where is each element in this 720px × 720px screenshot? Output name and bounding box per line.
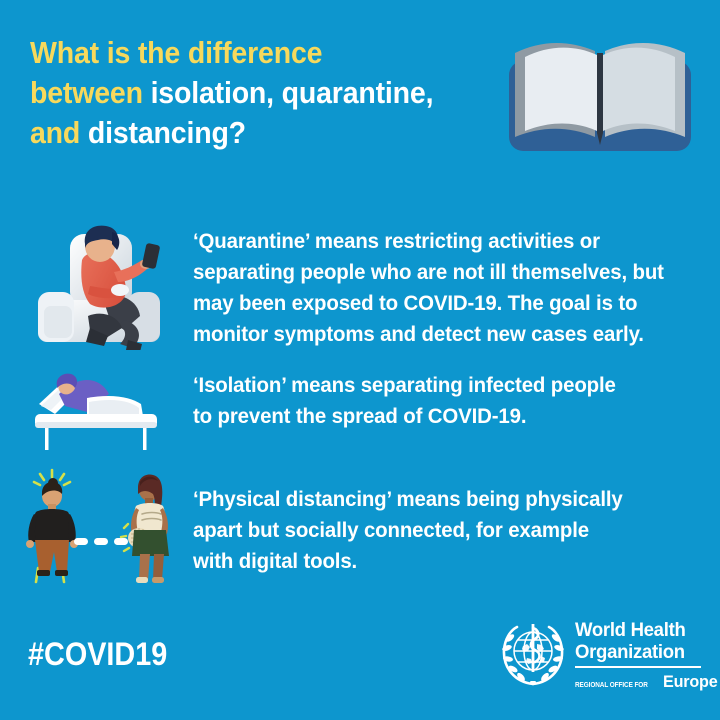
headline-segment: between (30, 75, 151, 110)
illustration-person-in-armchair (28, 220, 178, 355)
who-region: REGIONAL OFFICE FOR Europe (575, 672, 703, 692)
headline-segment: isolation, quarantine, (151, 75, 434, 110)
headline-segment: What is the difference (30, 35, 322, 70)
who-region-name: Europe (663, 672, 718, 692)
headline-line-3: and distancing? (30, 113, 462, 153)
section-distancing: ‘Physical distancing’ means being physic… (0, 462, 720, 597)
section-quarantine: ‘Quarantine’ means restricting activitie… (0, 216, 720, 351)
who-name-line-2: Organization (575, 642, 697, 664)
text-line: to prevent the spread of COVID-19. (193, 401, 668, 432)
who-emblem-icon (497, 618, 569, 690)
text-line: ‘Isolation’ means separating infected pe… (193, 370, 668, 401)
headline-line-1: What is the difference (30, 33, 462, 73)
open-book-icon (505, 25, 695, 170)
who-wordmark: World Health Organization REGIONAL OFFIC… (575, 620, 703, 692)
paragraph-quarantine: ‘Quarantine’ means restricting activitie… (193, 226, 668, 350)
paragraph-distancing: ‘Physical distancing’ means being physic… (193, 484, 668, 577)
page-title: What is the difference between isolation… (30, 33, 462, 153)
section-isolation: ‘Isolation’ means separating infected pe… (0, 352, 720, 462)
who-region-prefix: REGIONAL OFFICE FOR (575, 680, 648, 689)
hashtag-covid19: #COVID19 (28, 636, 167, 673)
headline-segment: distancing? (88, 115, 246, 150)
text-line: may been exposed to COVID-19. The goal i… (193, 288, 668, 319)
text-line: separating people who are not ill themse… (193, 257, 668, 288)
infographic-poster: What is the difference between isolation… (0, 0, 720, 720)
who-logo: World Health Organization REGIONAL OFFIC… (497, 618, 702, 694)
who-name: World Health Organization (575, 620, 697, 663)
who-divider (575, 666, 701, 668)
text-line: with digital tools. (193, 546, 668, 577)
text-line: ‘Physical distancing’ means being physic… (193, 484, 668, 515)
paragraph-isolation: ‘Isolation’ means separating infected pe… (193, 370, 668, 432)
headline-segment: and (30, 115, 88, 150)
illustration-person-on-bed (25, 360, 175, 455)
illustration-two-people-distanced (12, 464, 182, 594)
text-line: apart but socially connected, for exampl… (193, 515, 668, 546)
headline-line-2: between isolation, quarantine, (30, 73, 462, 113)
text-line: monitor symptoms and detect new cases ea… (193, 319, 668, 350)
who-name-line-1: World Health (575, 620, 697, 642)
text-line: ‘Quarantine’ means restricting activitie… (193, 226, 668, 257)
